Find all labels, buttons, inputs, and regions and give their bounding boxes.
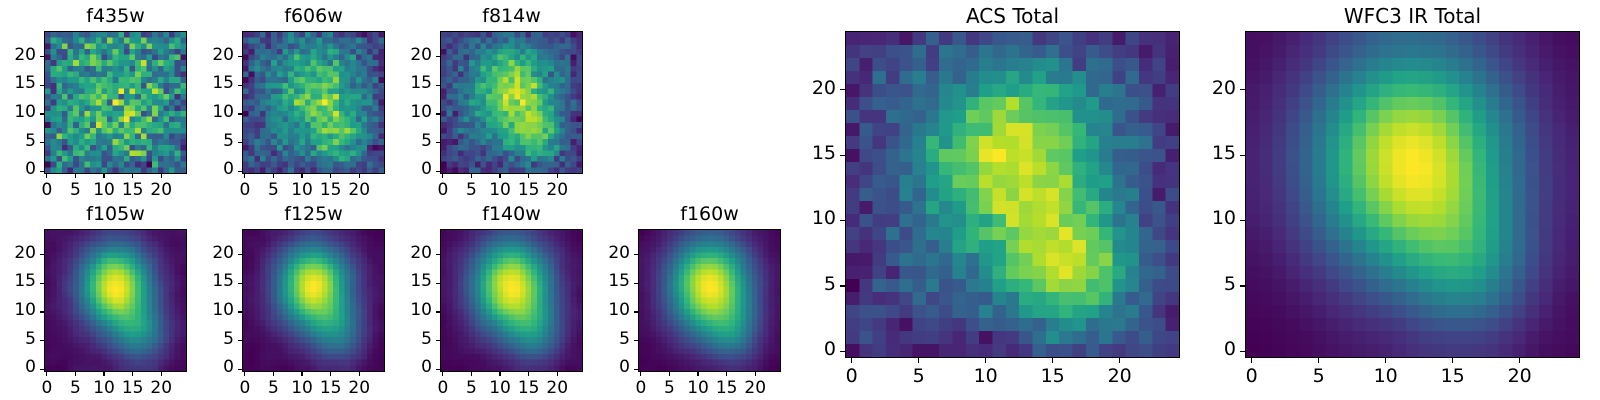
- y-tick-f606w-0: [238, 171, 242, 172]
- y-tick-wfc3_total-2: [1240, 220, 1245, 221]
- y-tick-f435w-1: [40, 142, 44, 143]
- x-ticklabel-acs_total-3: 15: [1023, 365, 1083, 387]
- x-tick-f105w-3: [132, 372, 133, 376]
- y-tick-f814w-2: [436, 113, 440, 114]
- y-tick-f140w-1: [436, 340, 440, 341]
- y-tick-f606w-3: [238, 85, 242, 86]
- y-ticklabel-wfc3_total-0: 0: [1176, 338, 1236, 360]
- y-tick-acs_total-3: [840, 155, 845, 156]
- heatmap-image-f160w: [639, 230, 780, 371]
- y-ticklabel-wfc3_total-4: 20: [1176, 77, 1236, 99]
- y-ticklabel-f160w-4: 20: [570, 243, 630, 263]
- x-tick-f814w-4: [557, 174, 558, 178]
- panel-f140w: f140w0510152005101520: [440, 229, 583, 372]
- panel-title-f125w: f125w: [242, 203, 385, 225]
- x-ticklabel-f435w-4: 20: [131, 180, 191, 200]
- y-ticklabel-f105w-3: 15: [0, 271, 36, 291]
- y-ticklabel-f606w-4: 20: [174, 45, 234, 65]
- x-tick-f814w-0: [442, 174, 443, 178]
- x-tick-f160w-1: [669, 372, 670, 376]
- y-ticklabel-f125w-1: 5: [174, 329, 234, 349]
- y-ticklabel-acs_total-1: 5: [776, 273, 836, 295]
- panel-title-f105w: f105w: [44, 203, 187, 225]
- x-tick-f105w-1: [75, 372, 76, 376]
- heatmap-image-f105w: [45, 230, 186, 371]
- axes-f160w: [638, 229, 781, 372]
- y-tick-f435w-0: [40, 171, 44, 172]
- x-tick-f125w-4: [359, 372, 360, 376]
- y-ticklabel-f125w-2: 10: [174, 300, 234, 320]
- x-tick-wfc3_total-3: [1452, 358, 1453, 363]
- y-ticklabel-f125w-4: 20: [174, 243, 234, 263]
- x-ticklabel-f160w-4: 20: [725, 378, 785, 398]
- y-ticklabel-wfc3_total-1: 5: [1176, 273, 1236, 295]
- y-tick-wfc3_total-1: [1240, 285, 1245, 286]
- heatmap-image-f606w: [243, 32, 384, 173]
- y-tick-f160w-4: [634, 254, 638, 255]
- y-ticklabel-f160w-3: 15: [570, 271, 630, 291]
- x-tick-f140w-2: [499, 372, 500, 376]
- heatmap-image-f125w: [243, 230, 384, 371]
- y-ticklabel-f606w-0: 0: [174, 159, 234, 179]
- panel-f125w: f125w0510152005101520: [242, 229, 385, 372]
- y-tick-f160w-1: [634, 340, 638, 341]
- x-tick-f606w-4: [359, 174, 360, 178]
- y-tick-f814w-1: [436, 142, 440, 143]
- y-tick-f125w-1: [238, 340, 242, 341]
- y-tick-f105w-2: [40, 311, 44, 312]
- x-ticklabel-wfc3_total-3: 15: [1423, 365, 1483, 387]
- x-ticklabel-acs_total-0: 0: [822, 365, 882, 387]
- x-tick-f140w-4: [557, 372, 558, 376]
- x-tick-f105w-4: [161, 372, 162, 376]
- y-ticklabel-f814w-0: 0: [372, 159, 432, 179]
- x-tick-f606w-1: [273, 174, 274, 178]
- panel-title-wfc3_total: WFC3 IR Total: [1245, 4, 1580, 28]
- heatmap-image-acs_total: [846, 32, 1179, 357]
- y-ticklabel-f125w-3: 15: [174, 271, 234, 291]
- x-tick-f160w-2: [697, 372, 698, 376]
- y-ticklabel-f435w-3: 15: [0, 73, 36, 93]
- y-tick-acs_total-2: [840, 220, 845, 221]
- heatmap-image-f814w: [441, 32, 582, 173]
- y-tick-f140w-2: [436, 311, 440, 312]
- y-tick-f435w-4: [40, 56, 44, 57]
- axes-wfc3_total: [1245, 31, 1580, 358]
- y-tick-f105w-0: [40, 369, 44, 370]
- y-ticklabel-f435w-1: 5: [0, 131, 36, 151]
- y-ticklabel-f814w-2: 10: [372, 102, 432, 122]
- y-ticklabel-f140w-1: 5: [372, 329, 432, 349]
- x-tick-acs_total-1: [918, 358, 919, 363]
- x-tick-f160w-0: [640, 372, 641, 376]
- y-tick-f125w-3: [238, 283, 242, 284]
- panel-acs_total: ACS Total0510152005101520: [845, 31, 1180, 358]
- x-tick-f435w-3: [132, 174, 133, 178]
- x-ticklabel-acs_total-4: 20: [1090, 365, 1150, 387]
- x-tick-f125w-1: [273, 372, 274, 376]
- y-ticklabel-f814w-4: 20: [372, 45, 432, 65]
- x-ticklabel-f606w-4: 20: [329, 180, 389, 200]
- x-tick-f435w-2: [103, 174, 104, 178]
- axes-f606w: [242, 31, 385, 174]
- y-tick-f814w-3: [436, 85, 440, 86]
- panel-f606w: f606w0510152005101520: [242, 31, 385, 174]
- y-ticklabel-acs_total-2: 10: [776, 207, 836, 229]
- panel-title-f606w: f606w: [242, 5, 385, 27]
- y-ticklabel-f140w-4: 20: [372, 243, 432, 263]
- y-ticklabel-f140w-3: 15: [372, 271, 432, 291]
- y-tick-f125w-2: [238, 311, 242, 312]
- x-ticklabel-wfc3_total-2: 10: [1356, 365, 1416, 387]
- y-ticklabel-f606w-2: 10: [174, 102, 234, 122]
- y-tick-f606w-1: [238, 142, 242, 143]
- x-tick-acs_total-2: [985, 358, 986, 363]
- x-tick-f435w-0: [46, 174, 47, 178]
- y-tick-f125w-0: [238, 369, 242, 370]
- x-tick-f435w-4: [161, 174, 162, 178]
- x-tick-acs_total-4: [1119, 358, 1120, 363]
- y-tick-acs_total-1: [840, 285, 845, 286]
- panel-f105w: f105w0510152005101520: [44, 229, 187, 372]
- y-tick-f105w-1: [40, 340, 44, 341]
- y-tick-f125w-4: [238, 254, 242, 255]
- panel-title-acs_total: ACS Total: [845, 4, 1180, 28]
- x-tick-f814w-1: [471, 174, 472, 178]
- y-tick-wfc3_total-4: [1240, 89, 1245, 90]
- panel-title-f435w: f435w: [44, 5, 187, 27]
- y-ticklabel-f435w-4: 20: [0, 45, 36, 65]
- y-ticklabel-f140w-2: 10: [372, 300, 432, 320]
- y-tick-f105w-4: [40, 254, 44, 255]
- x-tick-f814w-2: [499, 174, 500, 178]
- panel-f435w: f435w0510152005101520: [44, 31, 187, 174]
- y-tick-wfc3_total-0: [1240, 351, 1245, 352]
- axes-f105w: [44, 229, 187, 372]
- y-ticklabel-f606w-1: 5: [174, 131, 234, 151]
- y-tick-f160w-0: [634, 369, 638, 370]
- y-ticklabel-f125w-0: 0: [174, 357, 234, 377]
- x-tick-f435w-1: [75, 174, 76, 178]
- axes-f814w: [440, 31, 583, 174]
- y-tick-wfc3_total-3: [1240, 155, 1245, 156]
- panel-wfc3_total: WFC3 IR Total0510152005101520: [1245, 31, 1580, 358]
- y-tick-f606w-2: [238, 113, 242, 114]
- y-tick-f140w-4: [436, 254, 440, 255]
- x-tick-f125w-0: [244, 372, 245, 376]
- x-tick-f105w-0: [46, 372, 47, 376]
- y-ticklabel-f140w-0: 0: [372, 357, 432, 377]
- heatmap-image-wfc3_total: [1246, 32, 1579, 357]
- x-ticklabel-acs_total-2: 10: [956, 365, 1016, 387]
- y-tick-acs_total-4: [840, 89, 845, 90]
- y-tick-acs_total-0: [840, 351, 845, 352]
- panel-f160w: f160w0510152005101520: [638, 229, 781, 372]
- y-tick-f435w-2: [40, 113, 44, 114]
- y-ticklabel-f606w-3: 15: [174, 73, 234, 93]
- x-ticklabel-wfc3_total-4: 20: [1490, 365, 1550, 387]
- x-tick-wfc3_total-1: [1318, 358, 1319, 363]
- y-ticklabel-f435w-0: 0: [0, 159, 36, 179]
- x-tick-f814w-3: [528, 174, 529, 178]
- y-tick-f160w-3: [634, 283, 638, 284]
- x-tick-f105w-2: [103, 372, 104, 376]
- axes-f125w: [242, 229, 385, 372]
- heatmap-image-f140w: [441, 230, 582, 371]
- y-ticklabel-f160w-2: 10: [570, 300, 630, 320]
- y-tick-f140w-0: [436, 369, 440, 370]
- panel-title-f160w: f160w: [638, 203, 781, 225]
- y-ticklabel-f105w-1: 5: [0, 329, 36, 349]
- x-tick-f606w-2: [301, 174, 302, 178]
- axes-acs_total: [845, 31, 1180, 358]
- x-tick-f125w-2: [301, 372, 302, 376]
- x-tick-wfc3_total-4: [1519, 358, 1520, 363]
- heatmap-image-f435w: [45, 32, 186, 173]
- y-ticklabel-acs_total-4: 20: [776, 77, 836, 99]
- y-tick-f160w-2: [634, 311, 638, 312]
- y-ticklabel-wfc3_total-2: 10: [1176, 207, 1236, 229]
- x-tick-f160w-4: [755, 372, 756, 376]
- y-tick-f140w-3: [436, 283, 440, 284]
- x-ticklabel-wfc3_total-0: 0: [1222, 365, 1282, 387]
- panel-title-f814w: f814w: [440, 5, 583, 27]
- y-ticklabel-wfc3_total-3: 15: [1176, 142, 1236, 164]
- y-tick-f606w-4: [238, 56, 242, 57]
- y-ticklabel-f105w-0: 0: [0, 357, 36, 377]
- y-ticklabel-acs_total-3: 15: [776, 142, 836, 164]
- axes-f140w: [440, 229, 583, 372]
- x-tick-f606w-3: [330, 174, 331, 178]
- y-ticklabel-f160w-0: 0: [570, 357, 630, 377]
- x-ticklabel-f814w-4: 20: [527, 180, 587, 200]
- x-tick-wfc3_total-2: [1385, 358, 1386, 363]
- x-ticklabel-f140w-4: 20: [527, 378, 587, 398]
- x-ticklabel-wfc3_total-1: 5: [1289, 365, 1349, 387]
- y-tick-f435w-3: [40, 85, 44, 86]
- x-tick-f606w-0: [244, 174, 245, 178]
- y-ticklabel-f160w-1: 5: [570, 329, 630, 349]
- y-ticklabel-acs_total-0: 0: [776, 338, 836, 360]
- panel-f814w: f814w0510152005101520: [440, 31, 583, 174]
- x-tick-f160w-3: [726, 372, 727, 376]
- x-ticklabel-f125w-4: 20: [329, 378, 389, 398]
- y-tick-f814w-0: [436, 171, 440, 172]
- y-ticklabel-f435w-2: 10: [0, 102, 36, 122]
- x-tick-acs_total-3: [1052, 358, 1053, 363]
- y-ticklabel-f814w-1: 5: [372, 131, 432, 151]
- y-ticklabel-f105w-4: 20: [0, 243, 36, 263]
- y-tick-f814w-4: [436, 56, 440, 57]
- x-tick-wfc3_total-0: [1251, 358, 1252, 363]
- y-tick-f105w-3: [40, 283, 44, 284]
- panel-title-f140w: f140w: [440, 203, 583, 225]
- x-tick-f140w-1: [471, 372, 472, 376]
- y-ticklabel-f105w-2: 10: [0, 300, 36, 320]
- y-ticklabel-f814w-3: 15: [372, 73, 432, 93]
- x-tick-f125w-3: [330, 372, 331, 376]
- x-ticklabel-f105w-4: 20: [131, 378, 191, 398]
- axes-f435w: [44, 31, 187, 174]
- x-ticklabel-acs_total-1: 5: [889, 365, 949, 387]
- x-tick-f140w-3: [528, 372, 529, 376]
- x-tick-acs_total-0: [851, 358, 852, 363]
- x-tick-f140w-0: [442, 372, 443, 376]
